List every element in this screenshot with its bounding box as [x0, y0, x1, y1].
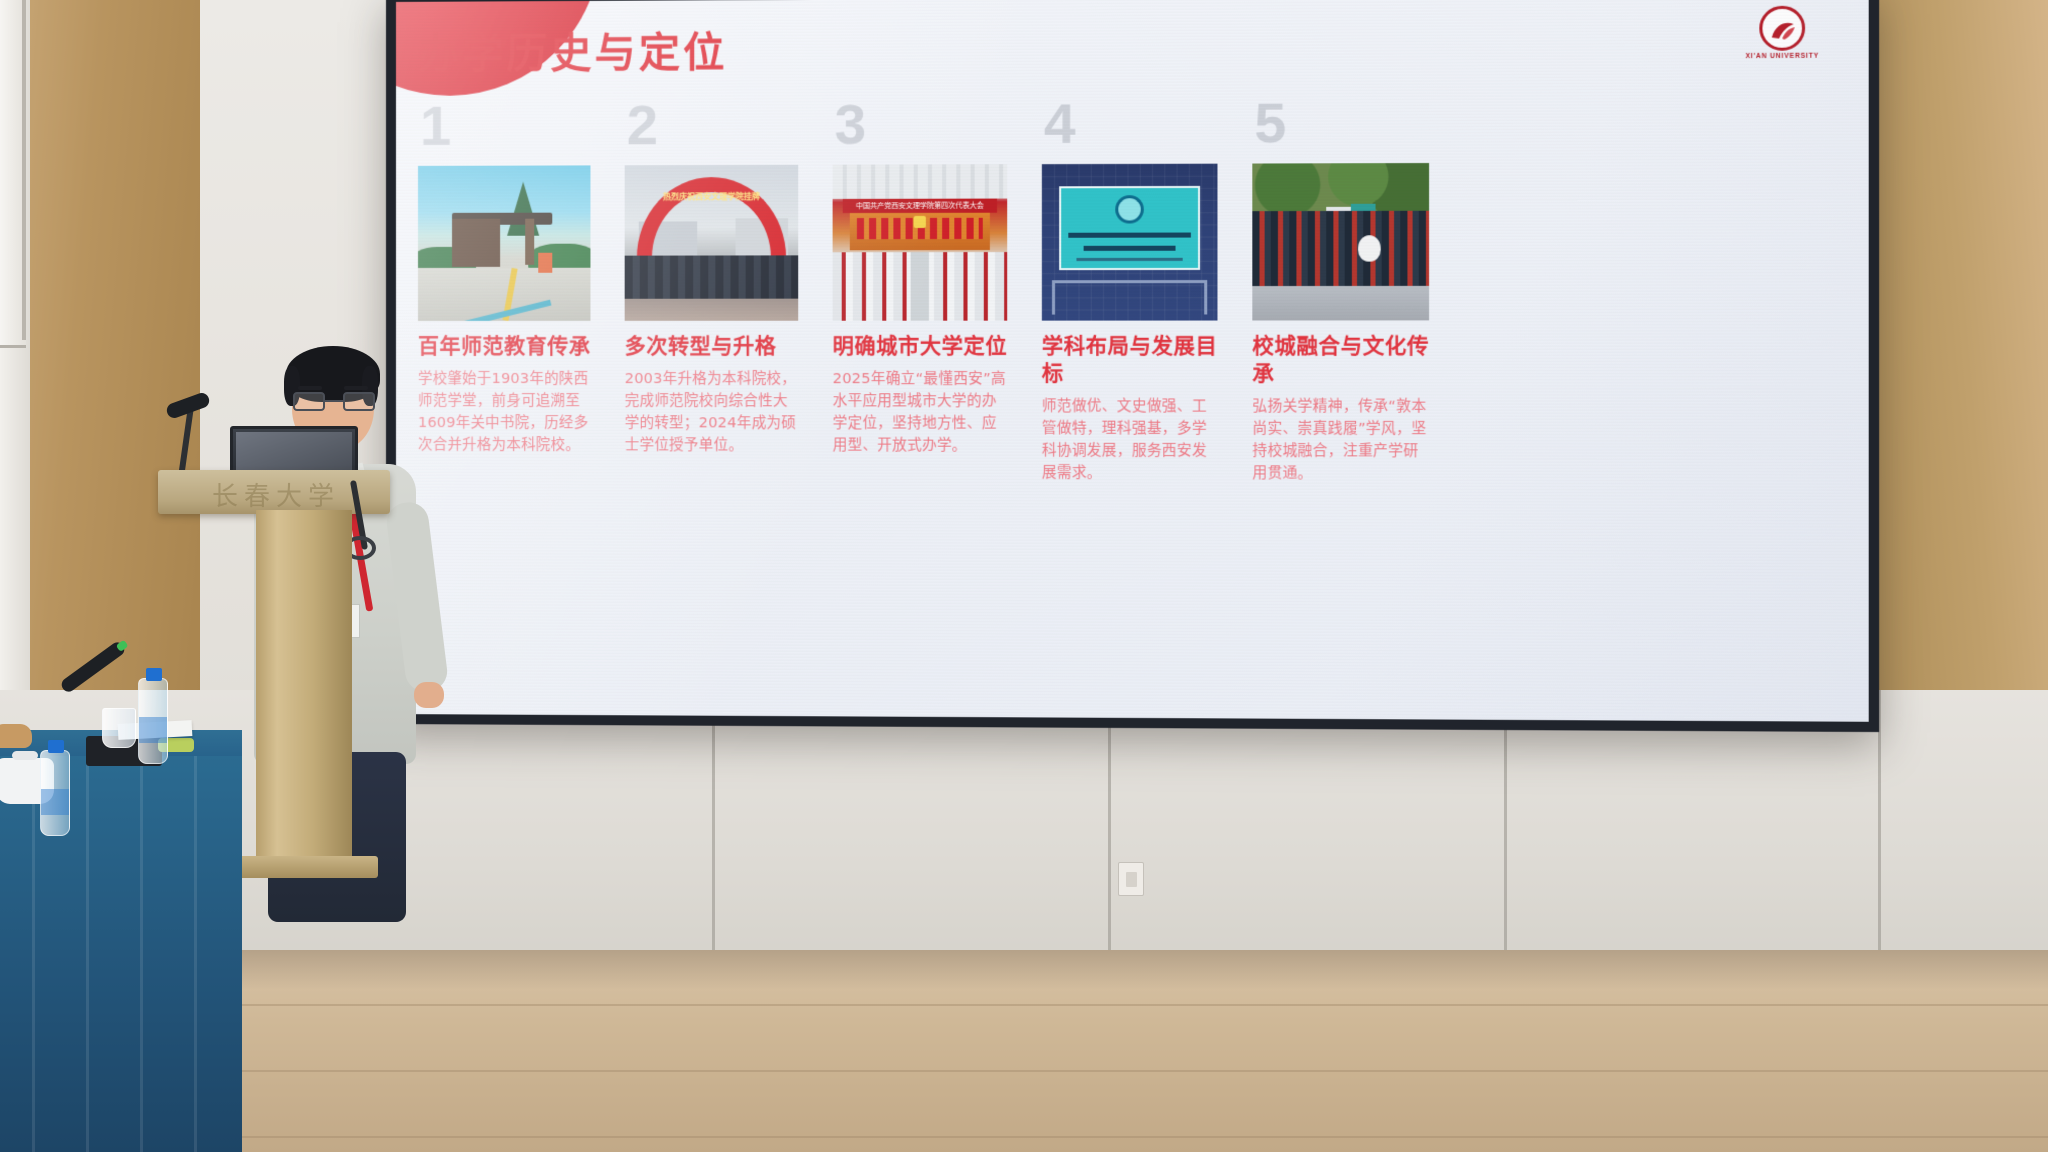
skirt-pleat: [140, 756, 143, 1152]
ceremony-arch-photo: 热烈庆祝西安文理学院挂牌: [625, 165, 799, 321]
photo-caption: 中国共产党西安文理学院第四次代表大会: [856, 201, 984, 211]
photo-caption: 热烈庆祝西安文理学院挂牌: [663, 191, 760, 202]
slide-columns: 1 百年师范教育传承 学校肇始于1903年的陕西师范学堂，前身可追溯至1609年…: [396, 92, 1869, 721]
projection-screen-frame: XI'AN UNIVERSITY 办学历史与定位 1 百年师范教育传承 学校肇: [386, 0, 1879, 732]
floor-seam: [0, 1004, 2048, 1006]
campus-gate-photo: [418, 165, 590, 321]
presenter-eyebrow: [344, 386, 368, 390]
column-number: 1: [420, 97, 625, 154]
party-congress-photo: 中国共产党西安文理学院第四次代表大会: [833, 164, 1008, 321]
table-skirt: [0, 756, 242, 1152]
wall-seam-left: [22, 0, 26, 340]
column-number: 5: [1254, 94, 1464, 152]
presentation-slide: XI'AN UNIVERSITY 办学历史与定位 1 百年师范教育传承 学校肇: [396, 0, 1869, 722]
column-heading: 明确城市大学定位: [833, 333, 1008, 360]
column-heading: 学科布局与发展目标: [1042, 333, 1218, 387]
laptop-screen: [236, 432, 352, 472]
venue-label: 长春大学: [176, 476, 376, 513]
presenter-hand: [414, 682, 444, 708]
column-body: 弘扬关学精神，传承“敦本尚实、崇真践履”学风，坚持校城融合，注重产学研用贯通。: [1252, 395, 1433, 485]
slide-title-text: 办学历史与定位: [418, 18, 727, 80]
column-body: 2025年确立“最懂西安”高水平应用型城市大学的办学定位，坚持地方性、应用型、开…: [833, 368, 1012, 457]
slide-column-4: 4 学科布局与发展目标 师范做优、文史做强、工管做特，理科强基，多学科协调发展，…: [1042, 95, 1253, 719]
column-heading: 百年师范教育传承: [418, 333, 590, 360]
wall-joint: [1108, 690, 1111, 960]
water-bottle: [138, 678, 168, 764]
floor-seam: [0, 1070, 2048, 1072]
slide-title: 办学历史与定位: [396, 13, 1869, 80]
floor-seam: [0, 1136, 2048, 1138]
lectern-column: [256, 510, 352, 862]
column-number: 2: [627, 96, 833, 153]
water-bottle: [40, 750, 70, 836]
slide-column-1: 1 百年师范教育传承 学校肇始于1903年的陕西师范学堂，前身可追溯至1609年…: [418, 97, 625, 715]
column-number: 4: [1044, 95, 1252, 152]
lectern-base: [232, 856, 378, 878]
floor-shadow: [0, 950, 2048, 990]
wall-joint: [712, 690, 715, 960]
skirt-pleat: [86, 756, 89, 1152]
slide-column-5: 5 校城融合与文化传承 弘扬关学精神，传承“敦本尚实、崇真践履”学风，坚持校城融…: [1252, 94, 1464, 720]
drinking-cup: [102, 708, 136, 748]
skirt-pleat: [194, 756, 197, 1152]
column-body: 2003年升格为本科院校，完成师范院校向综合性大学的转型；2024年成为硕士学位…: [625, 368, 803, 457]
presenter-eyebrow: [298, 386, 322, 390]
column-heading: 校城融合与文化传承: [1252, 333, 1429, 388]
snack-plate: [0, 724, 32, 748]
column-body: 师范做优、文史做强、工管做特，理科强基，多学科协调发展，服务西安发展需求。: [1042, 395, 1222, 484]
eyeglasses-icon: [292, 392, 376, 412]
key-lab-signboard-photo: [1042, 164, 1218, 321]
wall-joint: [1504, 690, 1507, 960]
wall-power-outlet[interactable]: [1118, 862, 1144, 896]
graduation-ceremony-photo: [1252, 163, 1429, 320]
wood-panel-right: [1860, 0, 2048, 720]
screenshot-root: XI'AN UNIVERSITY 办学历史与定位 1 百年师范教育传承 学校肇: [0, 0, 2048, 1152]
column-body: 学校肇始于1903年的陕西师范学堂，前身可追溯至1609年关中书院，历经多次合并…: [418, 368, 594, 456]
skirt-pleat: [32, 756, 35, 1152]
slide-column-3: 3 中国共产党西安文理学院第四次代表大会 明确城市大学定位 2025年确立“最懂…: [833, 95, 1042, 717]
front-table: [0, 730, 242, 1152]
column-heading: 多次转型与升格: [625, 333, 799, 360]
column-number: 3: [835, 95, 1042, 152]
slide-column-2: 2 热烈庆祝西安文理学院挂牌 多次转型与升格 2003年升格为本科院校，完成师范…: [625, 96, 833, 716]
